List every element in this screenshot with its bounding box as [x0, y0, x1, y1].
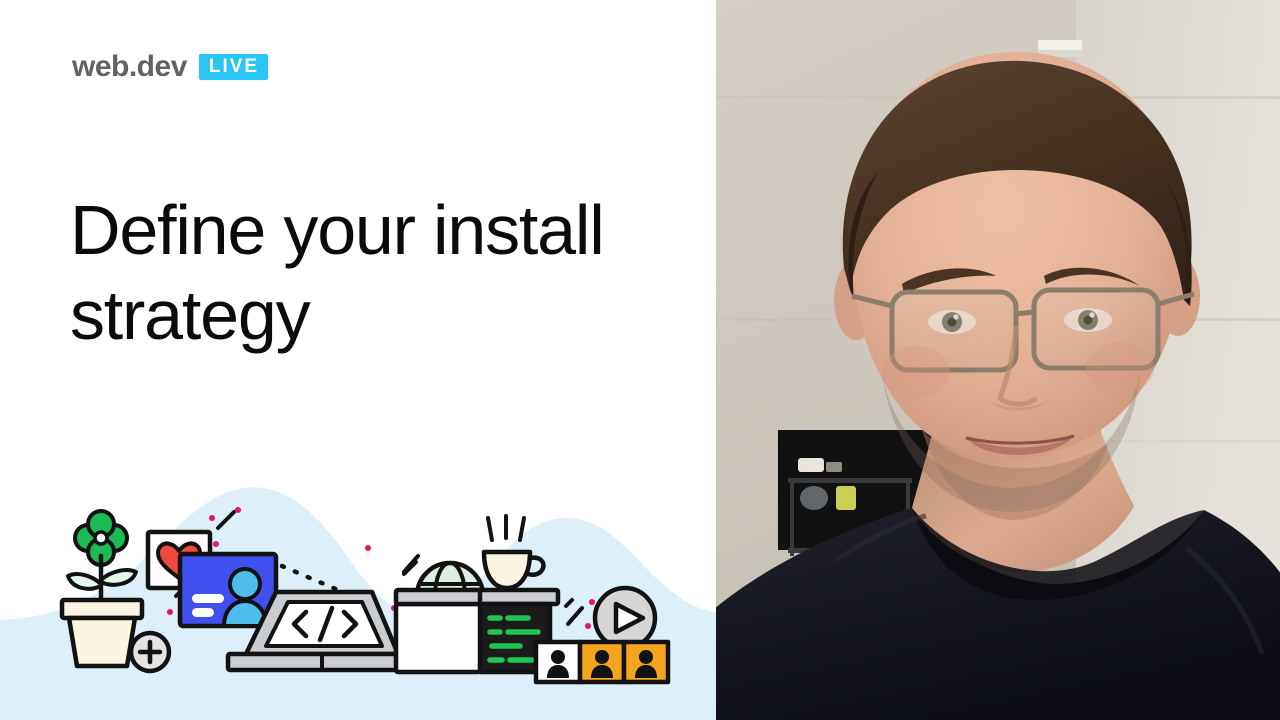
spark-cluster-right: [566, 599, 595, 629]
webdev-wordmark: web.dev: [72, 52, 187, 82]
broadcast-stage: web.dev LIVE Define your install strateg…: [0, 0, 1280, 720]
spark-cluster-heart: [209, 507, 241, 547]
play-button: [595, 588, 655, 648]
profile-card: [180, 554, 276, 626]
slide-title: Define your install strategy: [70, 188, 670, 359]
live-badge: LIVE: [199, 54, 268, 80]
shelf-jar: [836, 486, 856, 510]
people-tiles: [536, 642, 668, 682]
coffee-cup: [484, 516, 543, 588]
shelf-bowl: [800, 486, 828, 510]
add-plus-badge: [131, 633, 169, 671]
potted-flower: [62, 511, 142, 666]
presentation-slide: web.dev LIVE Define your install strateg…: [0, 0, 716, 720]
webdev-live-logo: web.dev LIVE: [72, 52, 268, 82]
presenter-webcam-image: [716, 0, 1280, 720]
hero-illustration: [0, 500, 716, 720]
terminal-window: [396, 590, 558, 672]
presenter-video-feed[interactable]: [716, 0, 1280, 720]
